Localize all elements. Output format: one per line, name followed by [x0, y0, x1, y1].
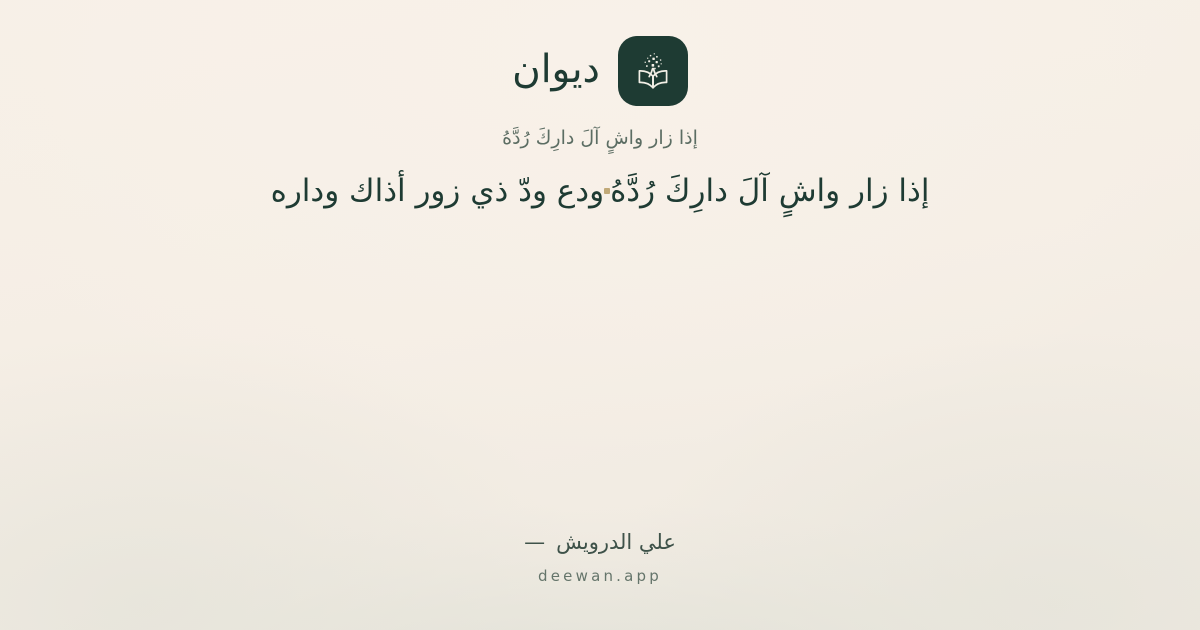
- verse-line: إذا زار واشٍ آلَ دارِكَ رُدَّهُ ودع ودّ …: [0, 167, 1200, 215]
- card-footer: علي الدرويش — deewan.app: [0, 528, 1200, 586]
- app-logo-badge: [618, 36, 688, 106]
- verse-separator-dot: [604, 188, 610, 194]
- app-title: ديوان: [512, 50, 600, 93]
- hemistich-first: ودع ودّ ذي زور أذاك وداره: [219, 167, 604, 215]
- share-card: ديوان إذا زار واشٍ آلَ دارِكَ رُدَّهُ إذ…: [0, 0, 1200, 630]
- attribution-dash: —: [524, 528, 545, 557]
- poem-subtitle: إذا زار واشٍ آلَ دارِكَ رُدَّهُ: [502, 124, 698, 153]
- poet-attribution: علي الدرويش —: [524, 528, 676, 557]
- brand-header: ديوان: [512, 36, 688, 106]
- open-book-sparkles-icon: [631, 49, 675, 93]
- hemistich-second: إذا زار واشٍ آلَ دارِكَ رُدَّهُ: [610, 167, 981, 215]
- site-url: deewan.app: [538, 567, 662, 587]
- poet-name: علي الدرويش: [556, 528, 676, 557]
